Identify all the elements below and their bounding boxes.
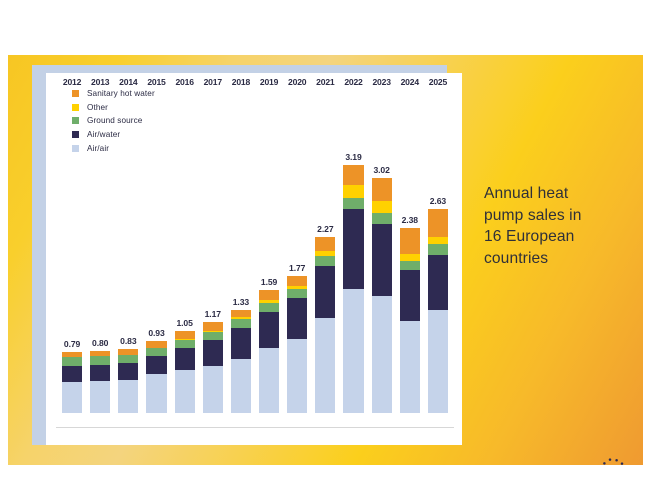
bar-segment[interactable] [372,201,392,213]
bar-segment[interactable] [118,355,138,364]
bar-value-label: 2.27 [317,224,333,234]
x-axis-tick-label: 2015 [147,77,165,87]
legend-item-label: Air/air [87,144,109,153]
stacked-bar[interactable] [259,290,279,414]
bar-segment[interactable] [259,312,279,348]
page-title-line: 16 European [484,226,634,248]
legend-swatch-icon [72,104,79,111]
stacked-bar[interactable] [428,209,448,413]
bar-segment[interactable] [428,255,448,310]
stacked-bar[interactable] [146,341,166,413]
bar-segment[interactable] [428,209,448,238]
bar-segment[interactable] [315,256,335,266]
bar-segment[interactable] [400,321,420,413]
legend-swatch-icon [72,131,79,138]
bar-value-label: 0.80 [92,338,108,348]
bar-segment[interactable] [428,244,448,254]
x-axis-tick-label: 2025 [429,77,447,87]
page-title-line: pump sales in [484,205,634,227]
bar-segment[interactable] [231,359,251,413]
stacked-bar[interactable] [315,237,335,413]
bar-segment[interactable] [90,381,110,413]
bar-segment[interactable] [343,289,363,413]
bar-group[interactable]: 2.632025 [428,73,448,413]
stacked-bar[interactable] [90,351,110,413]
bar-segment[interactable] [175,331,195,339]
bar-value-label: 3.19 [345,152,361,162]
bar-segment[interactable] [428,310,448,413]
bar-segment[interactable] [231,319,251,328]
x-axis-tick-label: 2014 [119,77,137,87]
page-title-line: countries [484,248,634,270]
bar-segment[interactable] [90,356,110,365]
bar-segment[interactable] [118,380,138,413]
bar-segment[interactable] [343,165,363,185]
bar-value-label: 1.33 [233,297,249,307]
legend-item[interactable]: Ground source [72,114,252,128]
stacked-bar[interactable] [287,276,307,413]
bar-value-label: 2.38 [402,215,418,225]
bar-segment[interactable] [118,363,138,380]
bar-segment[interactable] [315,318,335,413]
bar-group[interactable]: 1.592019 [259,73,279,413]
legend-swatch-icon [72,145,79,152]
bar-segment[interactable] [259,290,279,301]
bar-segment[interactable] [343,209,363,289]
bar-segment[interactable] [343,185,363,197]
stacked-bar[interactable] [372,178,392,413]
stacked-bar[interactable] [203,322,223,413]
bar-segment[interactable] [372,178,392,201]
x-axis-tick-label: 2020 [288,77,306,87]
bar-value-label: 1.17 [205,309,221,319]
bar-segment[interactable] [400,261,420,270]
stacked-bar[interactable] [175,331,195,413]
bar-segment[interactable] [343,198,363,209]
bar-segment[interactable] [259,348,279,413]
legend-swatch-icon [72,117,79,124]
x-axis-tick-label: 2021 [316,77,334,87]
bar-segment[interactable] [428,237,448,244]
legend-item[interactable]: Other [72,101,252,115]
legend-item-label: Other [87,103,108,112]
bar-value-label: 1.77 [289,263,305,273]
bar-segment[interactable] [372,224,392,296]
x-axis-tick-label: 2024 [401,77,419,87]
stacked-bar[interactable] [62,352,82,413]
x-axis-tick-label: 2019 [260,77,278,87]
bar-segment[interactable] [287,289,307,298]
bar-segment[interactable] [146,341,166,348]
x-axis-tick-label: 2018 [232,77,250,87]
legend-item-label: Ground source [87,116,142,125]
bar-segment[interactable] [231,310,251,318]
bar-value-label: 0.79 [64,339,80,349]
bar-segment[interactable] [203,340,223,366]
bar-segment[interactable] [400,270,420,321]
x-axis-tick-label: 2023 [372,77,390,87]
legend-item[interactable]: Air/water [72,128,252,142]
bar-value-label: 0.93 [148,328,164,338]
chart-legend: Sanitary hot waterOtherGround sourceAir/… [72,87,252,155]
bar-segment[interactable] [400,254,420,261]
bar-segment[interactable] [62,382,82,413]
bar-segment[interactable] [372,213,392,225]
logo-wordmark: ehpa [537,461,606,465]
chart-card: 0.7920120.8020130.8320140.9320151.052016… [46,73,462,445]
bar-value-label: 1.59 [261,277,277,287]
bar-group[interactable]: 2.272021 [315,73,335,413]
bar-segment[interactable] [315,237,335,252]
x-axis-tick-label: 2017 [204,77,222,87]
stacked-bar[interactable] [231,310,251,413]
bar-segment[interactable] [231,328,251,359]
legend-item[interactable]: Air/air [72,141,252,155]
x-axis-tick-label: 2012 [63,77,81,87]
bar-segment[interactable] [287,298,307,339]
bar-segment[interactable] [175,340,195,348]
bar-segment[interactable] [146,356,166,375]
bar-segment[interactable] [146,374,166,413]
bar-segment[interactable] [400,228,420,254]
bar-segment[interactable] [90,365,110,381]
page-title-line: Annual heat [484,183,634,205]
x-axis-tick-label: 2016 [175,77,193,87]
stacked-bar[interactable] [343,165,363,413]
bar-segment[interactable] [315,266,335,318]
stacked-bar[interactable] [118,349,138,413]
bar-value-label: 1.05 [176,318,192,328]
bar-segment[interactable] [372,296,392,413]
bar-segment[interactable] [203,322,223,331]
presentation-slide: 0.7920120.8020130.8320140.9320151.052016… [8,55,643,465]
bar-value-label: 3.02 [373,165,389,175]
bar-value-label: 0.83 [120,336,136,346]
bar-segment[interactable] [175,370,195,413]
bar-segment[interactable] [203,332,223,340]
legend-item-label: Sanitary hot water [87,89,155,98]
bar-segment[interactable] [175,348,195,371]
legend-item[interactable]: Sanitary hot water [72,87,252,101]
bar-group[interactable]: 2.382024 [400,73,420,413]
bar-group[interactable]: 3.022023 [372,73,392,413]
bar-segment[interactable] [287,339,307,413]
x-axis-tick-label: 2022 [344,77,362,87]
legend-swatch-icon [72,90,79,97]
bar-value-label: 2.63 [430,196,446,206]
bar-group[interactable]: 1.772020 [287,73,307,413]
bar-segment[interactable] [146,348,166,356]
chart-baseline [56,427,454,428]
bar-segment[interactable] [259,303,279,312]
bar-segment[interactable] [62,357,82,366]
bar-segment[interactable] [287,276,307,287]
bar-group[interactable]: 3.192022 [343,73,363,413]
legend-item-label: Air/water [87,130,120,139]
bar-segment[interactable] [62,366,82,382]
x-axis-tick-label: 2013 [91,77,109,87]
bar-segment[interactable] [203,366,223,413]
ehpa-logo: ehpa [506,455,631,465]
stacked-bar[interactable] [400,228,420,413]
page-title: Annual heatpump sales in16 Europeancount… [484,183,634,269]
